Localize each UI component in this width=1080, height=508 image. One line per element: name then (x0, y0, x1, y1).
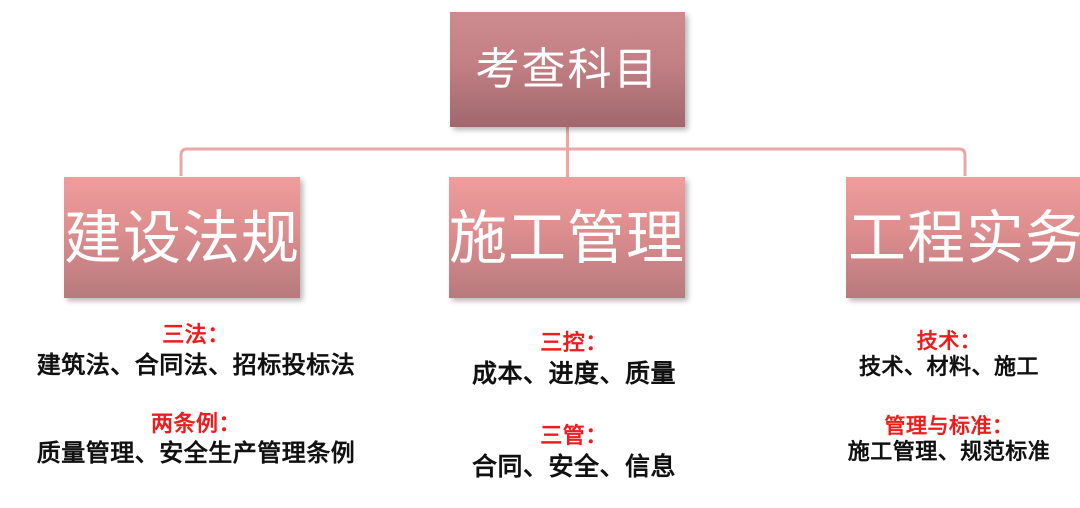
org-chart-diagram: 考查科目 建设法规 施工管理 工程实务 三法： 建筑法、合同法、招标投标法 两条… (0, 0, 1080, 508)
detail-heading: 管理与标准： (818, 413, 1080, 439)
detail-heading: 三管： (428, 423, 720, 451)
node-child-gongchengshiwu[interactable]: 工程实务 (846, 177, 1080, 298)
node-root[interactable]: 考查科目 (450, 12, 685, 127)
node-child-label: 工程实务 (848, 209, 1080, 267)
detail-heading: 三法： (0, 322, 392, 350)
detail-body: 成本、进度、质量 (428, 358, 720, 391)
detail-body: 技术、材料、施工 (818, 354, 1080, 383)
node-child-shigongguanli[interactable]: 施工管理 (449, 177, 685, 298)
detail-group: 三法： 建筑法、合同法、招标投标法 (0, 322, 392, 381)
detail-body: 建筑法、合同法、招标投标法 (0, 350, 392, 381)
detail-body: 合同、安全、信息 (428, 451, 720, 484)
node-child-jianshefagui[interactable]: 建设法规 (64, 177, 300, 298)
detail-group: 管理与标准： 施工管理、规范标准 (818, 413, 1080, 468)
detail-group: 技术： 技术、材料、施工 (818, 328, 1080, 383)
detail-heading: 技术： (818, 328, 1080, 354)
detail-body: 质量管理、安全生产管理条例 (0, 438, 392, 469)
detail-body: 施工管理、规范标准 (818, 439, 1080, 468)
node-root-label: 考查科目 (476, 48, 660, 92)
detail-column-shigongguanli: 三控： 成本、进度、质量 三管： 合同、安全、信息 (428, 330, 720, 508)
detail-heading: 两条例： (0, 411, 392, 439)
detail-group: 三管： 合同、安全、信息 (428, 423, 720, 483)
detail-column-jianshefagui: 三法： 建筑法、合同法、招标投标法 两条例： 质量管理、安全生产管理条例 (0, 322, 392, 499)
detail-heading: 三控： (428, 330, 720, 358)
detail-group: 三控： 成本、进度、质量 (428, 330, 720, 390)
detail-group: 两条例： 质量管理、安全生产管理条例 (0, 411, 392, 470)
detail-column-gongchengshiwu: 技术： 技术、材料、施工 管理与标准： 施工管理、规范标准 (818, 328, 1080, 498)
node-child-label: 施工管理 (449, 209, 685, 267)
node-child-label: 建设法规 (64, 209, 300, 267)
